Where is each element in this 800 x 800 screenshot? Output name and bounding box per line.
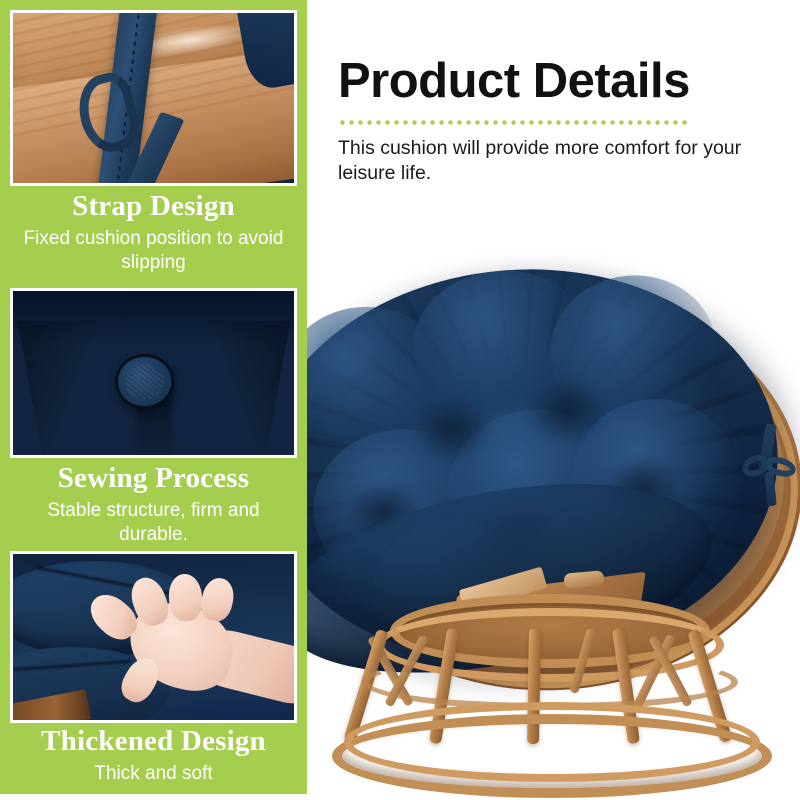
feature-column: Strap Design Fixed cushion position to a… <box>0 0 307 800</box>
feature-title: Thickened Design <box>0 725 307 758</box>
feature-text-strap-design: Strap Design Fixed cushion position to a… <box>0 190 307 275</box>
page-subtitle: This cushion will provide more comfort f… <box>338 136 758 186</box>
feature-description: Thick and soft <box>0 762 307 786</box>
page-title: Product Details <box>338 56 758 107</box>
feature-description: Fixed cushion position to avoid slipping <box>0 227 307 275</box>
feature-card-thickened-design: Thickened Design Thick and soft <box>0 549 307 794</box>
photo-inner <box>13 554 294 720</box>
feature-text-sewing-process: Sewing Process Stable structure, firm an… <box>0 462 307 547</box>
feature-photo-strap-design <box>10 10 297 186</box>
header-block: Product Details This cushion will provid… <box>338 56 758 186</box>
rattan-pedestal-base <box>332 588 772 800</box>
feature-description: Stable structure, firm and durable. <box>0 499 307 547</box>
feature-card-sewing-process: Sewing Process Stable structure, firm an… <box>0 277 307 549</box>
infographic-page: Product Details This cushion will provid… <box>0 0 800 800</box>
feature-photo-sewing-process <box>10 288 297 458</box>
feature-text-thickened-design: Thickened Design Thick and soft <box>0 725 307 786</box>
feature-title: Strap Design <box>0 190 307 223</box>
feature-photo-thickened-design <box>10 551 297 723</box>
feature-card-strap-design: Strap Design Fixed cushion position to a… <box>0 0 307 277</box>
feature-title: Sewing Process <box>0 462 307 495</box>
finger <box>167 573 203 622</box>
photo-inner <box>13 13 294 183</box>
tie-tail <box>764 472 777 507</box>
cushion-tie-strap-bow <box>736 424 800 508</box>
photo-inner <box>13 291 294 455</box>
base-bottom-ring-inner <box>344 702 760 782</box>
hand-pressing-cushion <box>92 574 294 717</box>
papasan-chair-photo <box>228 252 800 800</box>
dotted-divider <box>338 120 690 125</box>
